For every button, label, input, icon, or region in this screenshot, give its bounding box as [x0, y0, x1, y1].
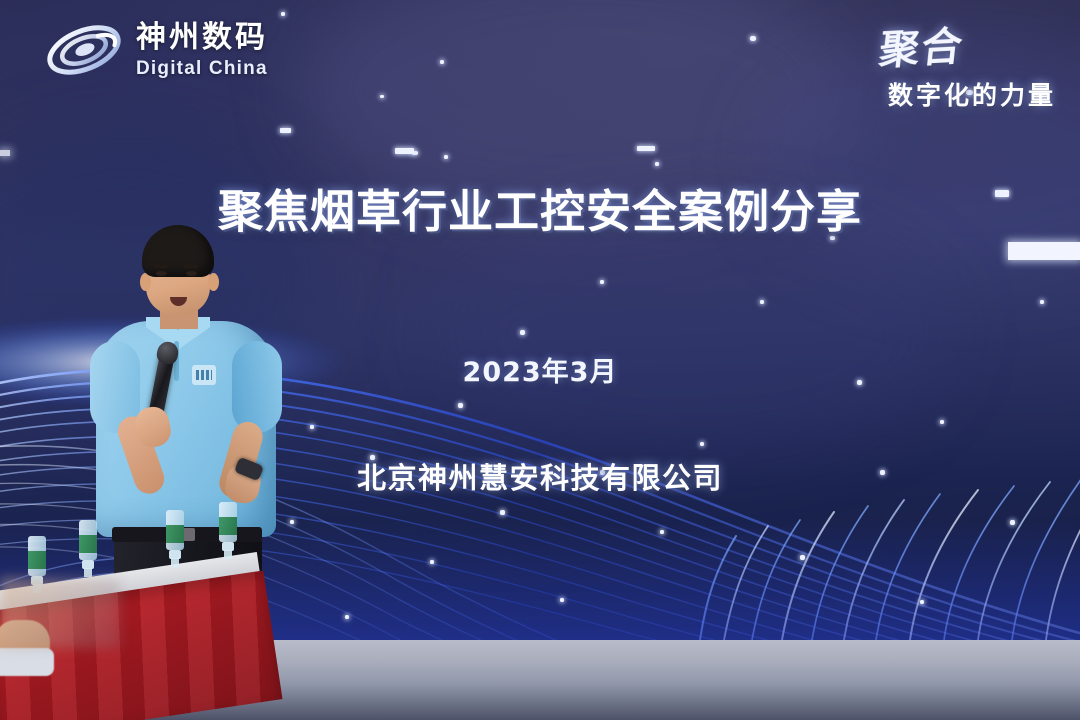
speaker-chest-logo	[192, 365, 216, 385]
screen-edge-highlight-right	[1008, 242, 1080, 260]
bottle-neck	[224, 550, 232, 559]
light-particle	[600, 280, 604, 284]
event-calligraphy: 聚合	[877, 14, 968, 76]
brand-name-en: Digital China	[136, 59, 268, 78]
speaker-eye	[186, 271, 197, 276]
digital-china-spiral-logo-icon	[44, 18, 124, 82]
bottle-body	[166, 510, 184, 550]
speaker-sleeve-right	[232, 341, 282, 433]
brand-name-cn: 神州数码	[136, 23, 268, 53]
digital-china-wordmark: 神州数码 Digital China	[136, 23, 268, 78]
light-particle	[280, 128, 291, 133]
bottle-label	[28, 551, 46, 569]
bottle-body	[28, 536, 46, 576]
foreground-blur	[0, 578, 120, 648]
speaker-eyebrow	[154, 265, 168, 268]
speaker-eye	[156, 271, 167, 276]
event-tagline: 数字化的力量	[796, 76, 1056, 112]
light-particle	[395, 148, 414, 154]
bottle-neck	[171, 558, 179, 567]
screen-edge-highlight-left	[0, 150, 10, 156]
light-particle	[637, 146, 655, 151]
light-particle	[380, 95, 384, 98]
bottle-label	[79, 535, 97, 553]
digital-china-brand: 神州数码 Digital China	[44, 18, 268, 82]
event-brand: 聚合 数字化的力量	[796, 16, 1056, 112]
light-particle	[655, 162, 659, 166]
stage-photo: 聚焦烟草行业工控安全案例分享 2023年3月 北京神州慧安科技有限公司	[0, 0, 1080, 720]
bottle-label	[166, 525, 184, 543]
light-particle	[750, 36, 756, 41]
light-particle	[281, 12, 285, 16]
bottle-body	[219, 502, 237, 542]
speaker-ear	[208, 273, 219, 291]
bottle-body	[79, 520, 97, 560]
bottle-label	[219, 517, 237, 535]
light-particle	[444, 155, 448, 159]
bottle-neck	[84, 568, 92, 577]
speaker-hair	[142, 225, 214, 277]
light-particle	[412, 151, 418, 155]
light-particle	[440, 60, 444, 64]
speaker-eyebrow	[184, 265, 198, 268]
